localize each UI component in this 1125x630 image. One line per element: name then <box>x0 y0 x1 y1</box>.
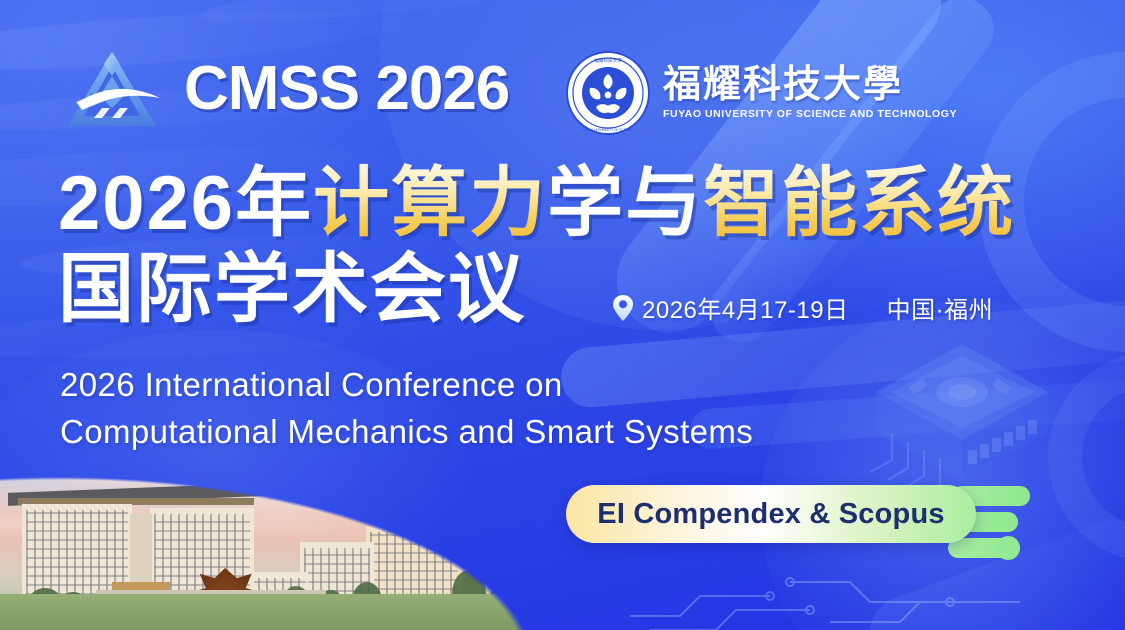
cmss-brand-row: CMSS 2026 <box>60 46 509 132</box>
conference-location: 中国·福州 <box>887 290 994 325</box>
university-name-en: FUYAO UNIVERSITY OF SCIENCE AND TECHNOLO… <box>663 108 957 120</box>
title-cn-seg-compmech: 计算力 <box>313 161 547 246</box>
university-brand-row: 福耀科技大學 FUYAO UNIVERSITY OF SCIENCE 福耀科技大… <box>565 50 957 136</box>
conference-acronym-title: CMSS 2026 <box>184 58 509 120</box>
conference-date: 2026年4月17-19日 <box>642 290 849 325</box>
fuyao-university-seal-icon: 福耀科技大學 FUYAO UNIVERSITY OF SCIENCE <box>565 50 651 136</box>
indexing-badge[interactable]: EI Compendex & Scopus <box>566 485 976 543</box>
conference-banner: CMSS 2026 福耀科技大學 <box>0 0 1125 630</box>
title-cn-seg-and: 学与 <box>547 161 703 246</box>
conference-title-en: 2026 International Conference on Computa… <box>60 362 960 456</box>
university-name-cn: 福耀科技大學 <box>663 66 957 106</box>
title-cn-seg-smartsys: 智能系统 <box>703 161 1015 246</box>
indexing-badge-label: EI Compendex & Scopus <box>597 498 944 531</box>
campus-photo <box>0 430 580 630</box>
location-pin-icon <box>612 294 634 322</box>
badge-deco-dot <box>996 536 1020 560</box>
title-en-line2: Computational Mechanics and Smart System… <box>60 409 960 456</box>
conference-meta: 2026年4月17-19日 中国·福州 <box>612 290 993 325</box>
cmss-pyramid-logo-icon <box>60 46 168 132</box>
title-en-line1: 2026 International Conference on <box>60 362 960 409</box>
title-cn-seg-year: 2026年 <box>58 161 313 246</box>
svg-text:福耀科技大學: 福耀科技大學 <box>594 57 622 64</box>
svg-text:FUYAO UNIVERSITY OF SCIENCE: FUYAO UNIVERSITY OF SCIENCE <box>582 128 633 132</box>
circuit-trace-pattern <box>620 556 1040 630</box>
